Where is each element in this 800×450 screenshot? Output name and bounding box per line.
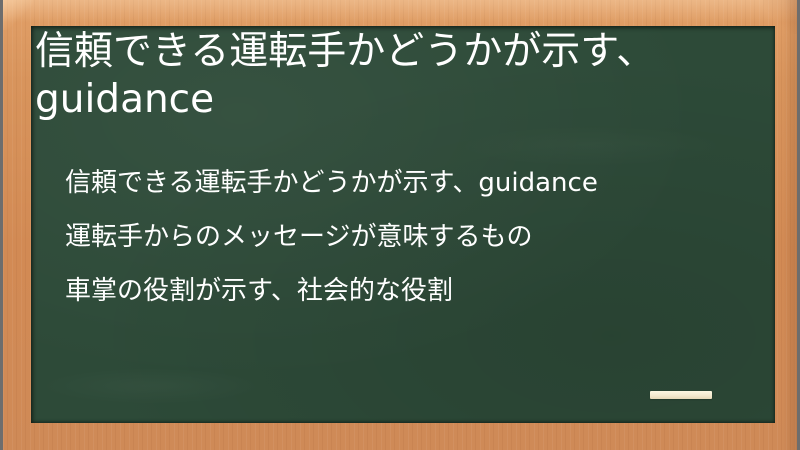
chalk-stick-icon [650,391,712,399]
slide-stage: 信頼できる運転手かどうかが示す、guidance 信頼できる運転手かどうかが示す… [0,0,800,450]
list-item: 車掌の役割が示す、社会的な役割 [65,264,755,318]
list-item: 信頼できる運転手かどうかが示す、guidance [65,156,755,210]
slide-title: 信頼できる運転手かどうかが示す、guidance [35,28,761,124]
frame-corner-top-left [3,0,33,30]
chalkboard-surface: 信頼できる運転手かどうかが示す、guidance 信頼できる運転手かどうかが示す… [31,26,775,423]
list-item: 運転手からのメッセージが意味するもの [65,210,755,264]
chalkboard-wooden-frame: 信頼できる運転手かどうかが示す、guidance 信頼できる運転手かどうかが示す… [3,0,797,450]
slide-bullet-list: 信頼できる運転手かどうかが示す、guidance 運転手からのメッセージが意味す… [65,156,755,318]
frame-right-shadow [783,0,797,450]
frame-top-highlight [3,0,797,26]
